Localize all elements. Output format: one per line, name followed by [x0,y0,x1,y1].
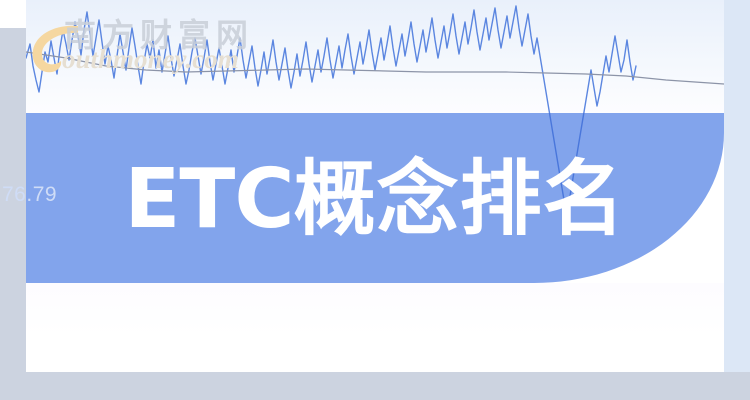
page-title: ETC概念排名 [0,150,750,250]
left-rail-top-notch [0,0,26,28]
page-title-cjk: 概念排名 [294,152,626,247]
bottom-band [0,372,724,400]
banner-image: 南方财富网 outhmoney.com 76.79 ETC概念排名 [0,0,750,400]
right-rail-bottom-notch [724,372,750,400]
page-title-latin: ETC [124,152,293,247]
